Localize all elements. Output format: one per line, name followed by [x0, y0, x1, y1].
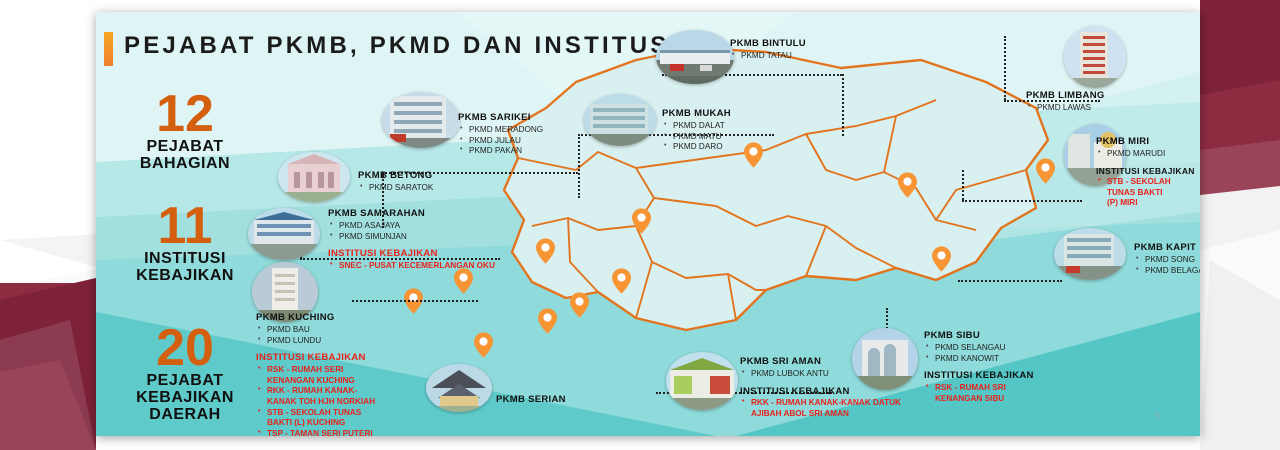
district-item: PKMD ASAJAYA [339, 221, 495, 232]
institution-list: SNEC - PUSAT KECEMERLANGAN OKU [328, 261, 495, 272]
district-item: PKMD LUNDU [267, 336, 385, 347]
stat-block-pejabat-kebajikan-daerah: 20 PEJABAT KEBAJIKAN DAERAH [110, 324, 260, 424]
photo-betong [278, 152, 350, 202]
office-block-sibu: PKMB SIBU PKMD SELANGAU PKMD KANOWIT INS… [924, 330, 1047, 404]
stat-label-line1: PEJABAT [110, 139, 260, 156]
district-item: PKMD SELANGAU [935, 343, 1047, 354]
stat-block-institusi-kebajikan: 11 INSTITUSI KEBAJIKAN [110, 202, 260, 285]
district-item: PKMD LUBOK ANTU [751, 369, 915, 380]
map-pin-bintulu[interactable] [744, 142, 763, 168]
institution-item: TSP - TAMAN SERI PUTERI [267, 429, 385, 436]
map-pin-kuching[interactable] [474, 332, 493, 358]
district-item: PKMD JULAU [469, 136, 543, 147]
district-list: PKMD LAWAS [1026, 103, 1105, 114]
district-item: PKMD SONG [1145, 255, 1200, 266]
map-pin-mukah[interactable] [632, 208, 651, 234]
district-list: PKMD LUBOK ANTU [740, 369, 915, 380]
office-name: PKMB MUKAH [662, 108, 731, 120]
institution-list: STB - SEKOLAH TUNAS BAKTI (P) MIRI [1096, 177, 1192, 209]
map-pin-sibu[interactable] [570, 292, 589, 318]
stat-label-line1: INSTITUSI [110, 251, 260, 268]
office-name: PKMB KUCHING [256, 312, 385, 324]
map-pin-betong[interactable] [454, 268, 473, 294]
office-block-kuching: PKMB KUCHING PKMD BAU PKMD LUNDU INSTITU… [256, 312, 385, 436]
institution-heading: INSTITUSI KEBAJIKAN [256, 352, 385, 364]
stat-label-line1: PEJABAT [110, 373, 260, 390]
institution-heading: INSTITUSI KEBAJIKAN [328, 248, 495, 260]
photo-limbang [1064, 26, 1126, 88]
office-name: PKMB SAMARAHAN [328, 208, 495, 220]
connector-kapit [958, 280, 1062, 282]
office-block-betong: PKMB BETONG PKMD SARATOK [358, 170, 433, 194]
photo-bintulu [656, 30, 734, 84]
institution-list: RSK - RUMAH SERI KENANGAN KUCHING RKK - … [256, 365, 385, 436]
institution-item: RSK - RUMAH SERI KENANGAN KUCHING [267, 365, 385, 386]
connector-kuching [352, 300, 478, 302]
photo-sarikei [382, 92, 460, 148]
district-list: PKMD MERADONG PKMD JULAU PKMD PAKAN [458, 125, 543, 157]
map-pin-kapit[interactable] [932, 246, 951, 272]
map-pin-sri-aman[interactable] [612, 268, 631, 294]
stat-label-line2: BAHAGIAN [110, 156, 260, 173]
office-block-sri-aman: PKMB SRI AMAN PKMD LUBOK ANTU INSTITUSI … [740, 356, 915, 420]
institution-heading: INSTITUSI KEBAJIKAN [1096, 166, 1192, 177]
district-item: PKMD SARATOK [369, 183, 433, 194]
office-name: PKMB BETONG [358, 170, 433, 182]
district-item: PKMD BELAGA [1145, 266, 1200, 277]
office-name: PKMB KAPIT [1134, 242, 1200, 254]
connector-miri [962, 200, 1082, 202]
photo-mukah [584, 94, 656, 146]
institution-heading: INSTITUSI KEBAJIKAN [740, 386, 915, 398]
photo-kapit [1054, 228, 1126, 280]
office-block-serian: PKMB SERIAN [496, 394, 566, 406]
institution-item: RKK - RUMAH KANAK-KANAK TOH HJH NORKIAH [267, 386, 385, 407]
office-name: PKMB BINTULU [730, 38, 806, 50]
district-list: PKMD SONG PKMD BELAGA [1134, 255, 1200, 276]
stat-number: 11 [110, 202, 260, 251]
district-item: PKMD BAU [267, 325, 385, 336]
photo-sri-aman [666, 352, 738, 410]
district-item: PKMD TATAU [741, 51, 806, 62]
institution-item: STB - SEKOLAH TUNAS BAKTI (P) MIRI [1107, 177, 1173, 209]
map-pin-limbang[interactable] [1036, 158, 1055, 184]
connector-miri-v [962, 170, 964, 200]
district-item: PKMD MATU [673, 132, 731, 143]
district-item: PKMD DARO [673, 142, 731, 153]
office-block-limbang: PKMB LIMBANG PKMD LAWAS [1026, 90, 1105, 114]
office-block-miri: PKMB MIRI PKMD MARUDI INSTITUSI KEBAJIKA… [1096, 136, 1192, 209]
connector-bintulu-v [842, 74, 844, 136]
institution-item: STB - SEKOLAH TUNAS BAKTI (L) KUCHING [267, 408, 385, 429]
photo-samarahan [248, 208, 320, 260]
office-block-mukah: PKMB MUKAH PKMD DALAT PKMD MATU PKMD DAR… [662, 108, 731, 153]
institution-item: RSK - RUMAH SRI KENANGAN SIBU [935, 383, 1047, 404]
stat-block-pejabat-bahagian: 12 PEJABAT BAHAGIAN [110, 90, 260, 173]
district-list: PKMD ASAJAYA PKMD SIMUNJAN [328, 221, 495, 242]
district-item: PKMD MERADONG [469, 125, 543, 136]
district-list: PKMD TATAU [730, 51, 806, 62]
office-block-sarikei: PKMB SARIKEI PKMD MERADONG PKMD JULAU PK… [458, 112, 543, 157]
stat-number: 12 [110, 90, 260, 139]
institution-list: RSK - RUMAH SRI KENANGAN SIBU [924, 383, 1047, 404]
institution-heading: INSTITUSI KEBAJIKAN [924, 370, 1047, 382]
institution-list: RKK - RUMAH KANAK-KANAK DATUK AJIBAH ABO… [740, 398, 915, 419]
district-item: PKMD MARUDI [1107, 149, 1192, 160]
office-block-samarahan: PKMB SAMARAHAN PKMD ASAJAYA PKMD SIMUNJA… [328, 208, 495, 272]
district-item: PKMD PAKAN [469, 146, 543, 157]
district-list: PKMD MARUDI [1096, 149, 1192, 160]
institution-item: SNEC - PUSAT KECEMERLANGAN OKU [339, 261, 495, 272]
office-name: PKMB SARIKEI [458, 112, 543, 124]
photo-serian [426, 364, 492, 412]
institution-item: RKK - RUMAH KANAK-KANAK DATUK AJIBAH ABO… [751, 398, 915, 419]
office-block-bintulu: PKMB BINTULU PKMD TATAU [730, 38, 806, 62]
district-item: PKMD LAWAS [1037, 103, 1105, 114]
office-name: PKMB SIBU [924, 330, 1047, 342]
stat-number: 20 [110, 324, 260, 373]
stat-label-line2: KEBAJIKAN [110, 390, 260, 407]
office-name: PKMB SERIAN [496, 394, 566, 406]
office-name: PKMB SRI AMAN [740, 356, 915, 368]
map-pin-sarikei[interactable] [536, 238, 555, 264]
stat-label-line3: DAERAH [110, 407, 260, 424]
office-name: PKMB LIMBANG [1026, 90, 1105, 102]
district-item: PKMD KANOWIT [935, 354, 1047, 365]
page-number: 9 [1154, 410, 1160, 422]
district-list: PKMD DALAT PKMD MATU PKMD DARO [662, 121, 731, 153]
district-item: PKMD DALAT [673, 121, 731, 132]
slide-canvas: PEJABAT PKMB, PKMD DAN INSTITUSI 12 PEJA… [96, 12, 1200, 436]
map-pin-serian[interactable] [538, 308, 557, 334]
connector-mukah-v [578, 134, 580, 198]
district-item: PKMD SIMUNJAN [339, 232, 495, 243]
office-block-kapit: PKMB KAPIT PKMD SONG PKMD BELAGA [1134, 242, 1200, 276]
title-accent-bar [104, 32, 113, 66]
map-pin-miri[interactable] [898, 172, 917, 198]
district-list: PKMD SARATOK [358, 183, 433, 194]
district-list: PKMD BAU PKMD LUNDU [256, 325, 385, 346]
office-name: PKMB MIRI [1096, 136, 1192, 148]
stat-label-line2: KEBAJIKAN [110, 268, 260, 285]
district-list: PKMD SELANGAU PKMD KANOWIT [924, 343, 1047, 364]
connector-limbang-v [1004, 36, 1006, 100]
